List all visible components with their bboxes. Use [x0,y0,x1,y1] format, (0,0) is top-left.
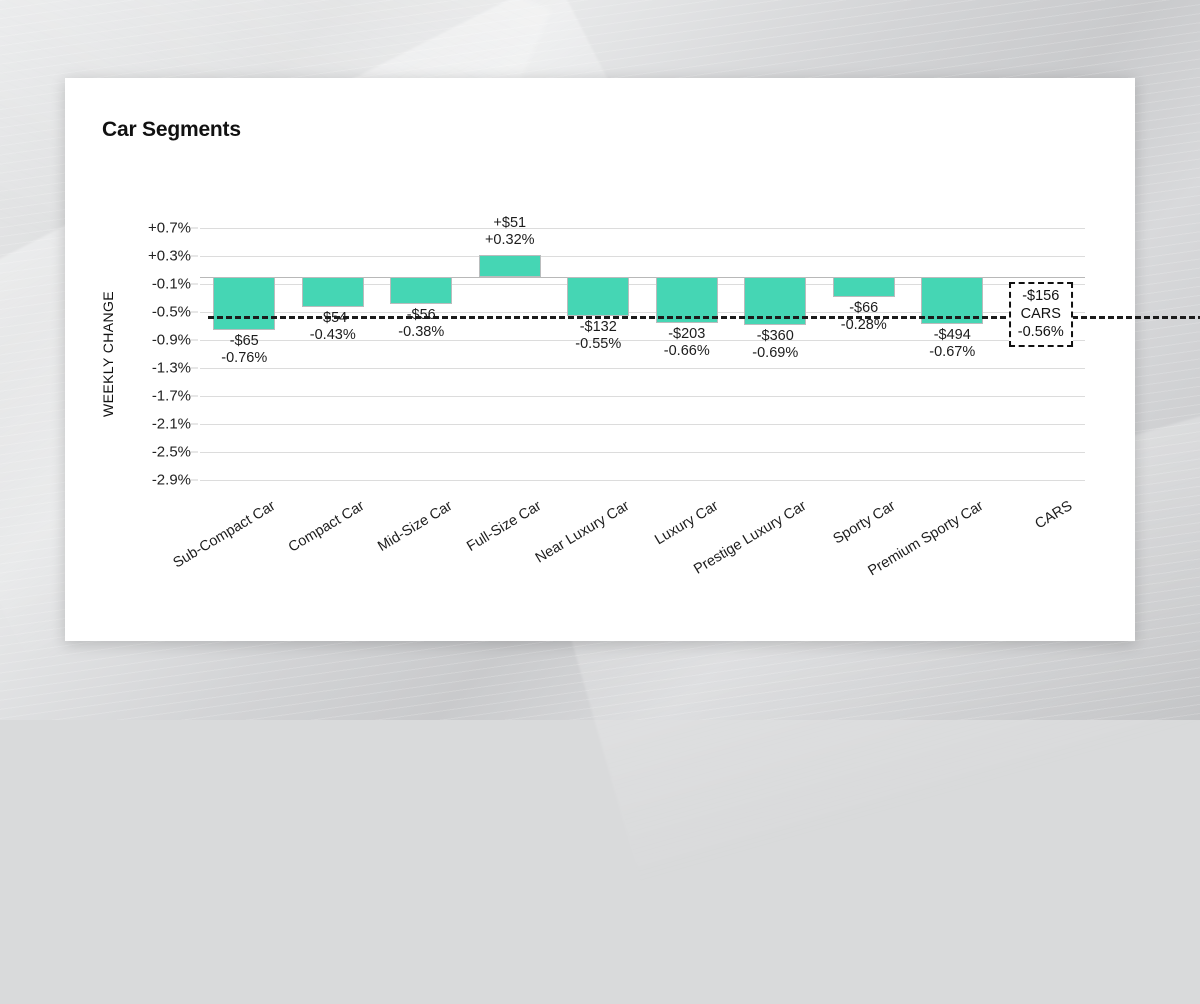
y-axis-tick-mark [191,480,198,481]
bar[interactable] [302,277,364,307]
bar-value-dollar: -$494 [929,327,975,344]
y-axis-tick-label: -1.7% [152,388,191,405]
bar[interactable] [567,277,629,316]
y-axis-tick-mark [191,368,198,369]
bar-value-label: -$65-0.76% [221,333,267,367]
x-axis-label: Compact Car [286,498,367,556]
bar[interactable] [833,277,895,297]
gridline [200,368,1085,369]
bar-value-label: -$132-0.55% [575,319,621,353]
bar-value-dollar: -$132 [575,319,621,336]
y-axis-tick-mark [191,256,198,257]
bar-value-percent: -0.76% [221,350,267,367]
y-axis-tick-label: -2.5% [152,444,191,461]
y-axis-tick-label: -2.9% [152,472,191,489]
x-axis-label: Sub-Compact Car [171,498,279,571]
bar-value-percent: -0.55% [575,336,621,353]
y-axis-tick-mark [191,396,198,397]
y-axis-tick-label: +0.7% [148,220,191,237]
bar-value-dollar: -$65 [221,333,267,350]
x-axis-label: Luxury Car [652,498,721,548]
bar-value-dollar: -$66 [841,300,887,317]
x-axis-label: Mid-Size Car [375,498,455,555]
bar-value-label: -$203-0.66% [664,326,710,360]
cars-summary-name: CARS [1018,305,1064,323]
bar-value-dollar: +$51 [485,215,535,232]
bar-value-label: +$51+0.32% [485,215,535,249]
y-axis-tick-mark [191,284,198,285]
bar[interactable] [479,255,541,277]
bar-value-label: -$494-0.67% [929,327,975,361]
bar-value-percent: -0.28% [841,317,887,334]
y-axis-tick-mark [191,228,198,229]
bar-value-dollar: -$360 [752,328,798,345]
bar-value-percent: -0.67% [929,344,975,361]
page-title: Car Segments [102,118,241,142]
y-axis-tick-mark [191,312,198,313]
y-axis-tick-mark [191,340,198,341]
chart-card: Car Segments WEEKLY CHANGE +0.7%+0.3%-0.… [65,78,1135,641]
y-axis-tick-label: -0.5% [152,304,191,321]
gridline [200,228,1085,229]
bar[interactable] [390,277,452,304]
bar-value-percent: -0.38% [398,324,444,341]
gridline [200,396,1085,397]
y-axis-tick-label: -2.1% [152,416,191,433]
gridline [200,480,1085,481]
y-axis-title: WEEKLY CHANGE [100,291,116,417]
bar-value-label: -$66-0.28% [841,300,887,334]
bar-value-dollar: -$56 [398,307,444,324]
x-axis-label: CARS [1032,498,1075,532]
bar-value-percent: -0.69% [752,345,798,362]
gridline [200,256,1085,257]
bar-value-label: -$56-0.38% [398,307,444,341]
bar-value-percent: -0.66% [664,343,710,360]
x-axis-label: Near Luxury Car [533,498,632,567]
chart-plot-area: WEEKLY CHANGE +0.7%+0.3%-0.1%-0.5%-0.9%-… [200,228,1085,480]
bar-value-percent: +0.32% [485,232,535,249]
gridline [200,452,1085,453]
y-axis-tick-label: -0.1% [152,276,191,293]
bar-value-dollar: -$203 [664,326,710,343]
y-axis-tick-mark [191,424,198,425]
bar-value-percent: -0.43% [310,327,356,344]
bar-value-dollar: -$54 [310,310,356,327]
cars-summary-dollar: -$156 [1018,287,1064,305]
x-axis-label: Sporty Car [830,498,898,547]
x-axis-label: Full-Size Car [464,498,544,555]
y-axis-tick-label: -0.9% [152,332,191,349]
y-axis-tick-label: -1.3% [152,360,191,377]
y-axis-tick-mark [191,452,198,453]
y-axis-tick-label: +0.3% [148,248,191,265]
gridline [200,424,1085,425]
bar-value-label: -$54-0.43% [310,310,356,344]
cars-summary-percent: -0.56% [1018,323,1064,341]
cars-summary-box: -$156CARS-0.56% [1009,282,1073,347]
bar-value-label: -$360-0.69% [752,328,798,362]
bar[interactable] [213,277,275,330]
